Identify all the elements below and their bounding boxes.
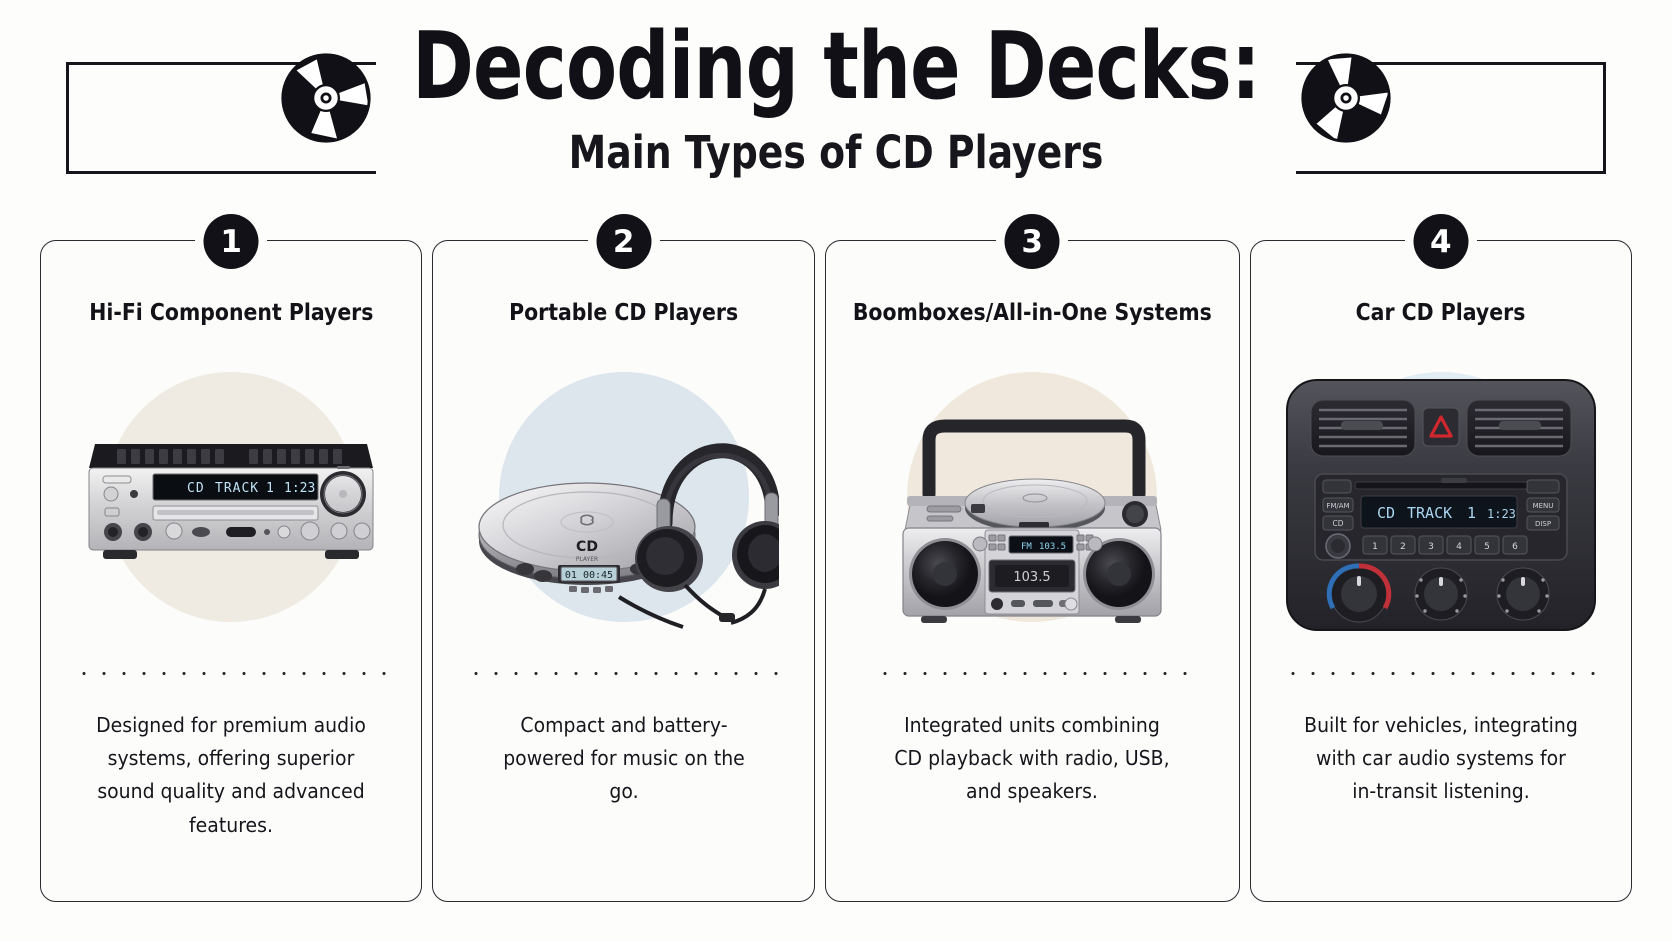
card-number-badge: 3 [1005, 214, 1060, 269]
card-hifi-component-players[interactable]: 1 Hi-Fi Component Players [40, 240, 422, 902]
card-car-cd-players[interactable]: 4 Car CD Players [1250, 240, 1632, 902]
svg-text:CD: CD [187, 481, 205, 496]
svg-text:5: 5 [1484, 542, 1490, 552]
card-title: Boomboxes/All-in-One Systems [853, 298, 1212, 326]
hifi-component-player-illustration: CD TRACK 1 1:23 [81, 428, 381, 583]
card-divider [875, 672, 1190, 675]
page-header: Decoding the Decks: Main Types of CD Pla… [0, 0, 1672, 215]
card-description: Compact and battery-powered for music on… [486, 709, 762, 809]
card-description: Integrated units combining CD playback w… [894, 709, 1170, 809]
svg-text:CD: CD [1332, 519, 1343, 528]
card-divider [466, 672, 781, 675]
svg-text:2: 2 [1400, 542, 1406, 552]
svg-text:1: 1 [1467, 504, 1476, 522]
card-description: Designed for premium audio systems, offe… [93, 709, 369, 842]
svg-text:6: 6 [1512, 542, 1518, 552]
svg-text:103.5: 103.5 [1014, 570, 1051, 585]
svg-text:1: 1 [1372, 542, 1378, 552]
card-number-badge: 4 [1413, 214, 1468, 269]
illustration-area: CD PLAYER 01 00:45 [433, 340, 813, 670]
svg-text:DISP: DISP [1535, 520, 1551, 528]
svg-text:MENU: MENU [1532, 502, 1553, 510]
card-boomboxes-all-in-one-systems[interactable]: 3 Boomboxes/All-in-One Systems [825, 240, 1240, 902]
illustration-area: FM 103.5 103.5 [826, 340, 1239, 670]
svg-text:1: 1 [266, 481, 274, 496]
card-title: Portable CD Players [509, 298, 738, 326]
cd-player-types-grid: 1 Hi-Fi Component Players [40, 240, 1632, 902]
cd-disc-icon [280, 52, 372, 144]
svg-text:TRACK: TRACK [1407, 504, 1452, 522]
card-title: Hi-Fi Component Players [89, 298, 373, 326]
svg-text:103.5: 103.5 [1039, 542, 1066, 552]
boombox-illustration: FM 103.5 103.5 [867, 378, 1197, 633]
card-title: Car CD Players [1356, 298, 1526, 326]
svg-text:CD: CD [1377, 504, 1395, 522]
svg-text:PLAYER: PLAYER [575, 556, 597, 563]
svg-text:FM/AM: FM/AM [1326, 502, 1349, 510]
portable-cd-player-illustration: CD PLAYER 01 00:45 [469, 373, 779, 638]
card-description: Built for vehicles, integrating with car… [1303, 709, 1579, 809]
card-number-badge: 1 [204, 214, 259, 269]
svg-text:CD: CD [576, 539, 598, 555]
illustration-area: CD TRACK 1 1:23 [41, 340, 421, 670]
svg-text:1:23: 1:23 [1487, 507, 1516, 521]
car-cd-player-illustration: CD TRACK 1 1:23 FM/AM CD MENU [1281, 368, 1601, 643]
svg-text:1:23: 1:23 [284, 481, 315, 496]
svg-text:3: 3 [1428, 542, 1434, 552]
cd-disc-icon [1300, 52, 1392, 144]
card-number-badge: 2 [596, 214, 651, 269]
card-portable-cd-players[interactable]: 2 Portable CD Players [432, 240, 814, 902]
card-divider [1283, 672, 1598, 675]
svg-text:4: 4 [1456, 542, 1462, 552]
illustration-area: CD TRACK 1 1:23 FM/AM CD MENU [1251, 340, 1631, 670]
svg-text:01 00:45: 01 00:45 [565, 570, 613, 581]
card-divider [74, 672, 389, 675]
svg-text:TRACK: TRACK [215, 481, 259, 496]
svg-text:FM: FM [1021, 542, 1032, 552]
